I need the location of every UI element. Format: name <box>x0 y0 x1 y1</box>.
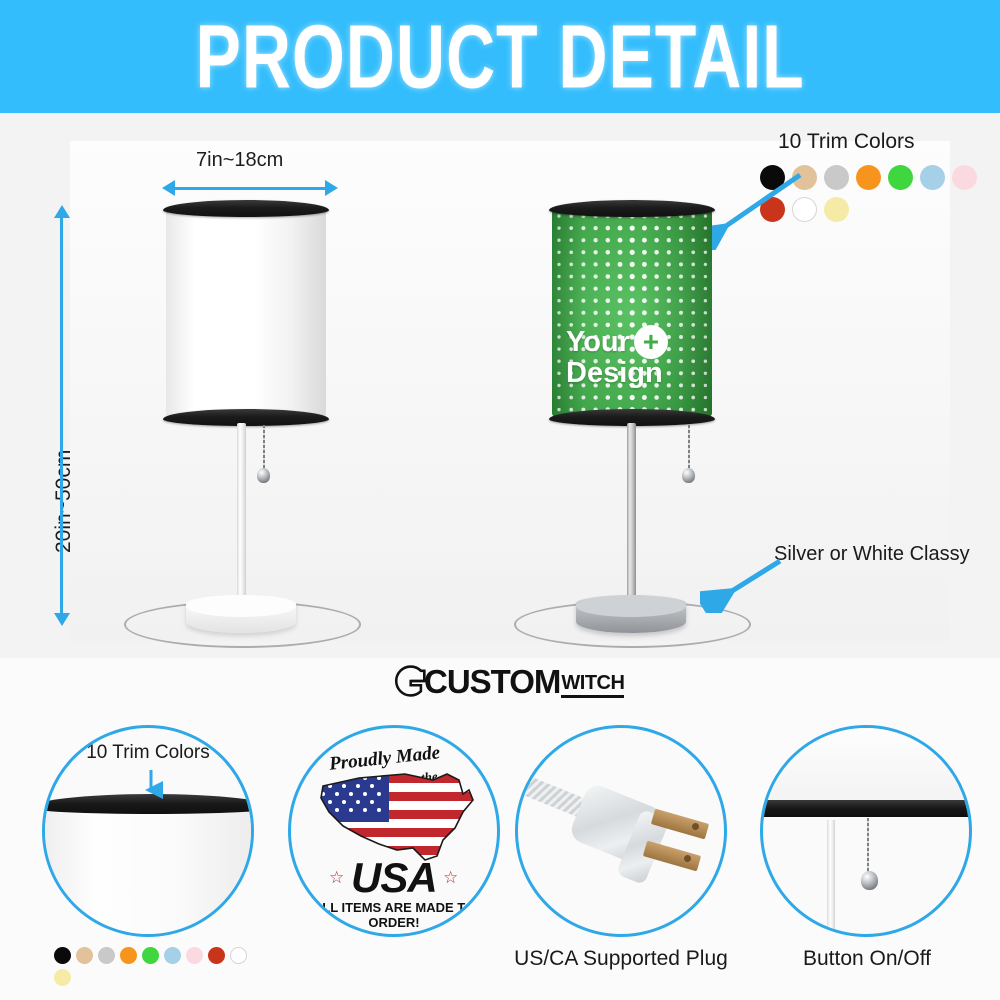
height-dimension-label: 20in~50cm <box>52 450 76 553</box>
white-lamp-pole <box>237 423 246 623</box>
trim-swatch-yellow[interactable] <box>54 969 71 986</box>
trim-swatch-pink[interactable] <box>952 165 977 190</box>
usa-made-to-order-text: ALL ITEMS ARE MADE TO ORDER! <box>291 900 497 930</box>
plug-feature-label: US/CA Supported Plug <box>501 947 741 971</box>
white-shade-surface <box>166 209 326 417</box>
trim-colors-callout-label: 10 Trim Colors <box>778 130 915 154</box>
page-title: PRODUCT DETAIL <box>195 5 804 109</box>
feature-row: 10 Trim Colors Proudly Made in the <box>0 715 1000 1000</box>
trim-swatch-green[interactable] <box>888 165 913 190</box>
height-arrow-up-icon <box>54 205 70 218</box>
switch-black-band <box>760 800 972 817</box>
switch-pull-chain[interactable] <box>867 818 869 874</box>
height-arrow-down-icon <box>54 613 70 626</box>
logo-underline <box>561 695 624 698</box>
trim-swatch-gray[interactable] <box>98 947 115 964</box>
design-text-block: Your + Design <box>566 325 706 390</box>
trim-swatch-tan[interactable] <box>76 947 93 964</box>
header-banner: PRODUCT DETAIL <box>0 0 1000 113</box>
product-detail-infographic: PRODUCT DETAIL 10 Trim Colors 7in~18cm 2… <box>0 0 1000 1000</box>
trim-colors-inner-label: 10 Trim Colors <box>45 742 251 764</box>
white-lamp-chain-ball[interactable] <box>257 468 270 483</box>
trim-swatch-orange[interactable] <box>856 165 881 190</box>
design-lamp-shade[interactable]: Your + Design <box>552 209 712 417</box>
logo-c-icon <box>392 664 426 698</box>
design-shade-top-trim <box>549 200 715 217</box>
switch-feature-label: Button On/Off <box>762 947 972 971</box>
brand-logo: CUSTOM WITCH <box>392 664 624 698</box>
design-lamp-chain-ball[interactable] <box>682 468 695 483</box>
trim-swatch-black[interactable] <box>54 947 71 964</box>
logo-witch-text: WITCH <box>561 673 624 693</box>
base-finish-arrow <box>700 553 790 613</box>
trim-color-swatches-bottom <box>54 947 250 986</box>
made-in-usa-circle[interactable]: Proudly Made in the <box>288 725 500 937</box>
width-dimension-line <box>175 187 325 190</box>
trim-swatch-red[interactable] <box>208 947 225 964</box>
logo-witch-group: WITCH <box>561 673 624 698</box>
width-arrow-left-icon <box>162 180 175 196</box>
main-product-stage: 10 Trim Colors 7in~18cm 20in~50cm <box>0 113 1000 658</box>
trim-colors-down-arrow-icon <box>139 768 163 800</box>
base-finish-callout-label: Silver or White Classy <box>774 543 970 566</box>
usa-country-text: USA <box>351 854 437 902</box>
trim-swatch-orange[interactable] <box>120 947 137 964</box>
add-design-plus-icon[interactable]: + <box>634 325 668 359</box>
switch-chain-ball[interactable] <box>861 871 878 890</box>
switch-circle[interactable] <box>760 725 972 937</box>
trim-swatch-light-blue[interactable] <box>164 947 181 964</box>
logo-custom-text: CUSTOM <box>424 665 560 698</box>
design-base-top <box>576 595 686 617</box>
trim-swatch-yellow[interactable] <box>824 197 849 222</box>
trim-swatch-light-blue[interactable] <box>920 165 945 190</box>
design-lamp-pole <box>627 423 636 623</box>
white-shade-top-trim <box>163 200 329 217</box>
trim-swatch-white[interactable] <box>230 947 247 964</box>
white-lamp-base <box>186 595 296 633</box>
trim-swatch-gray[interactable] <box>824 165 849 190</box>
switch-shade-surface <box>760 725 972 808</box>
white-lamp-pull-chain[interactable] <box>263 425 265 471</box>
usa-star-right-icon: ☆ <box>443 868 458 888</box>
design-lamp-pull-chain[interactable] <box>688 425 690 471</box>
design-text-line2: Design <box>566 357 706 390</box>
plug-prong-lower <box>643 841 701 872</box>
width-dimension-label: 7in~18cm <box>196 149 283 172</box>
white-base-top <box>186 595 296 617</box>
design-lamp-base <box>576 595 686 633</box>
trim-shade-surface <box>42 806 254 937</box>
trim-colors-circle[interactable]: 10 Trim Colors <box>42 725 254 937</box>
width-arrow-right-icon <box>325 180 338 196</box>
white-lamp-shade <box>166 209 326 417</box>
height-dimension-line <box>60 218 63 613</box>
trim-swatch-pink[interactable] <box>186 947 203 964</box>
switch-pole <box>827 820 835 930</box>
design-text-line1: Your <box>566 326 630 359</box>
white-shade-bottom-trim <box>163 409 329 426</box>
usa-star-left-icon: ☆ <box>329 868 344 888</box>
plug-circle[interactable] <box>515 725 727 937</box>
trim-swatch-green[interactable] <box>142 947 159 964</box>
